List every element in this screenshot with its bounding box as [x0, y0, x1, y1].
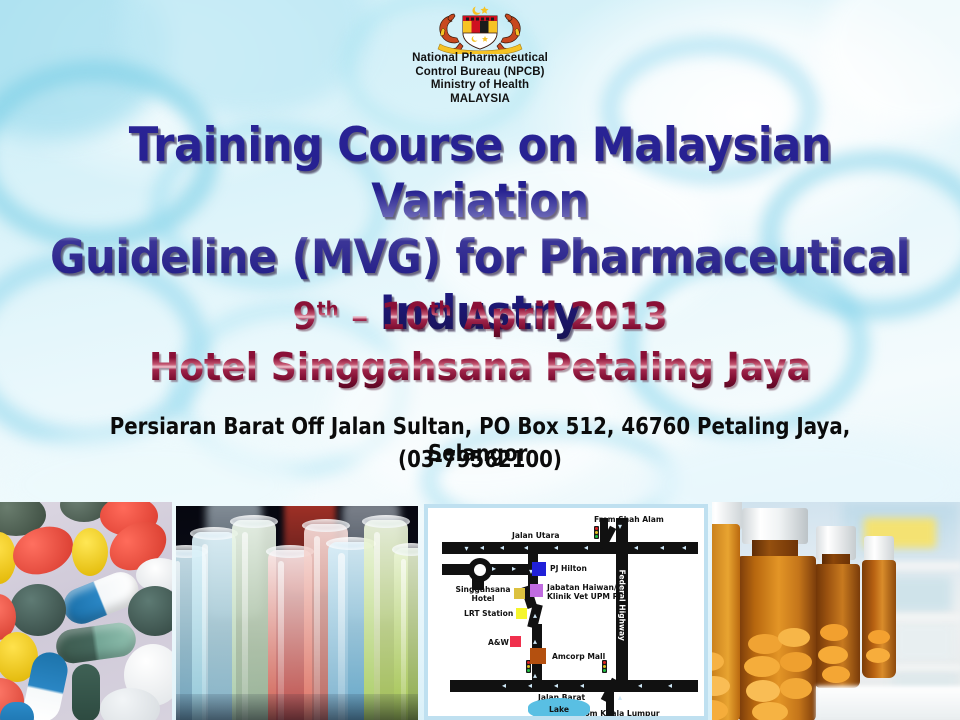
- malaysia-coat-of-arms-icon: [410, 2, 550, 54]
- date-day-from: 9: [292, 295, 316, 338]
- map-label-pj-hilton: PJ Hilton: [550, 565, 587, 574]
- map-label-jabatan-haiwan: Jabatan Haiwan/ Klinik Vet UPM PJ: [547, 584, 621, 601]
- photo-location-map: ◂ ◂ ◂ ◂ ◂ ◂ ◂ ◂ ▸ ▸ ▾ ▾ ▴ ▴ ▴ ▴ ◂ ◂ ◂ ◂ …: [424, 504, 708, 720]
- map-label-singgahsana-hotel: Singgahsana Hotel: [454, 586, 512, 603]
- poster-canvas: National Pharmaceutical Control Bureau (…: [0, 0, 960, 720]
- event-date: 9th – 10th April 2013: [24, 295, 936, 339]
- photo-pills: [0, 502, 172, 720]
- map-swatch-pj-hilton: [532, 562, 546, 576]
- map-label-aw: A&W: [488, 639, 509, 648]
- organization-name: National Pharmaceutical Control Bureau (…: [330, 52, 630, 106]
- map-swatch-jabatan-haiwan: [530, 584, 543, 597]
- date-month-year: April 2013: [464, 295, 668, 338]
- traffic-light-icon: [602, 660, 607, 673]
- date-day-to-suffix: th: [430, 298, 452, 321]
- org-line-3: Ministry of Health: [330, 79, 630, 93]
- photo-pharmacy-bottles: [712, 502, 960, 720]
- photo-test-tubes: [176, 506, 418, 720]
- map-canvas: ◂ ◂ ◂ ◂ ◂ ◂ ◂ ◂ ▸ ▸ ▾ ▾ ▴ ▴ ▴ ▴ ◂ ◂ ◂ ◂ …: [428, 508, 704, 716]
- map-swatch-lrt-station: [516, 608, 527, 619]
- org-line-2: Control Bureau (NPCB): [330, 66, 630, 80]
- map-swatch-singgahsana-hotel: [514, 588, 525, 599]
- map-label-amcorp-mall: Amcorp Mall: [552, 653, 605, 662]
- org-line-4: MALAYSIA: [330, 93, 630, 107]
- map-swatch-amcorp-mall: [530, 648, 546, 664]
- org-line-1: National Pharmaceutical: [330, 52, 630, 66]
- road-jalan-barat: [450, 680, 698, 692]
- date-day-from-suffix: th: [317, 298, 339, 321]
- traffic-light-icon: [594, 526, 599, 539]
- map-swatch-aw: [510, 636, 521, 647]
- event-venue: Hotel Singgahsana Petaling Jaya: [24, 344, 936, 390]
- map-lake: Lake: [528, 698, 590, 716]
- map-label-lrt-station: LRT Station: [464, 610, 513, 619]
- date-dash: –: [351, 295, 369, 338]
- map-label-jalan-utara: Jalan Utara: [512, 532, 560, 541]
- date-day-to: 10: [381, 295, 430, 338]
- venue-phone: (03-79562100): [67, 447, 893, 474]
- map-label-from-shah-alam: From Shah Alam: [594, 516, 664, 525]
